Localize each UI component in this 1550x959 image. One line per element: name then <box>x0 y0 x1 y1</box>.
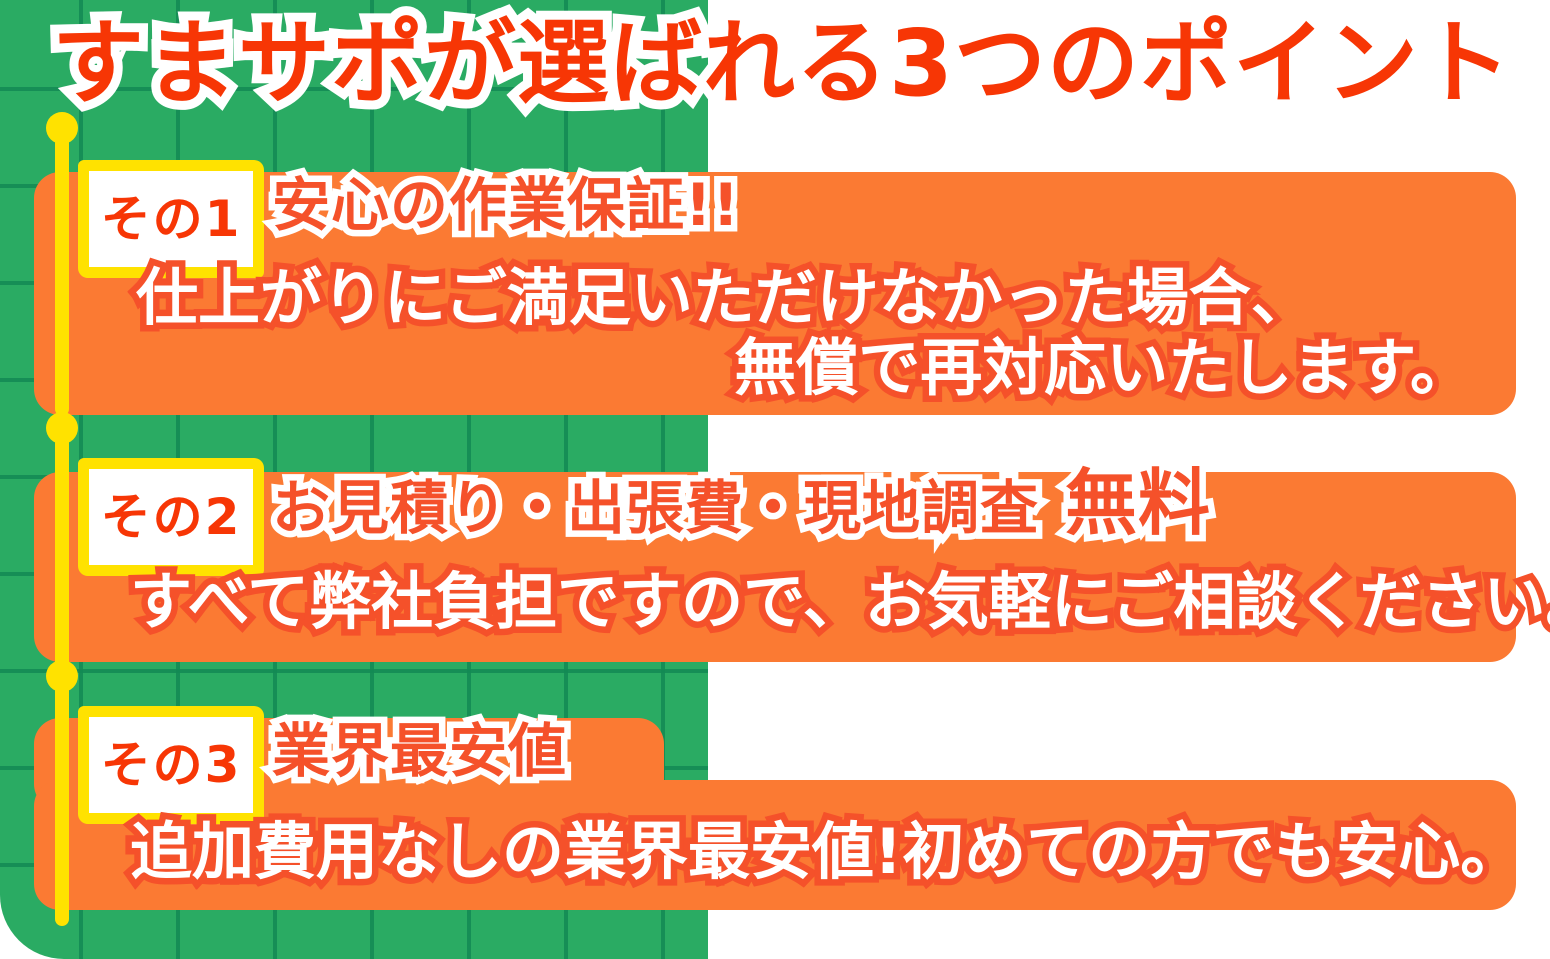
badge-label-2: その2 <box>101 492 242 542</box>
flagpole-3 <box>55 676 69 926</box>
point-body-1-line-1: 仕上がりにご満足いただけなかった場合、 <box>136 262 1313 334</box>
promo-banner: すまサポが選ばれる3つのポイント その1 安心の作業保証!! 仕上がりにご満足い… <box>0 0 1550 959</box>
badge-label-1: その1 <box>101 194 242 244</box>
flagpole-1 <box>55 128 69 416</box>
badge-flag-2: その2 <box>78 458 264 576</box>
point-headline-2-emphasis: 無料 <box>1065 461 1211 545</box>
point-body-1-line-2: 無償で再対応いたします。 <box>136 332 1472 404</box>
point-headline-3: 業界最安値 <box>272 718 567 784</box>
point-headline-2-main: お見積り・出張費・現地調査 <box>272 474 1039 542</box>
point-body-3-line-1: 追加費用なしの業界最安値!初めての方でも安心。 <box>130 816 1522 888</box>
point-body-2-line-1: すべて弊社負担ですので、お気軽にご相談ください。 <box>130 566 1550 638</box>
point-headline-2: お見積り・出張費・現地調査無料 <box>272 470 1211 541</box>
badge-flag-3: その3 <box>78 706 264 824</box>
page-title: すまサポが選ばれる3つのポイント <box>52 8 1522 120</box>
badge-label-3: その3 <box>101 740 242 790</box>
point-headline-1: 安心の作業保証!! <box>272 172 740 238</box>
